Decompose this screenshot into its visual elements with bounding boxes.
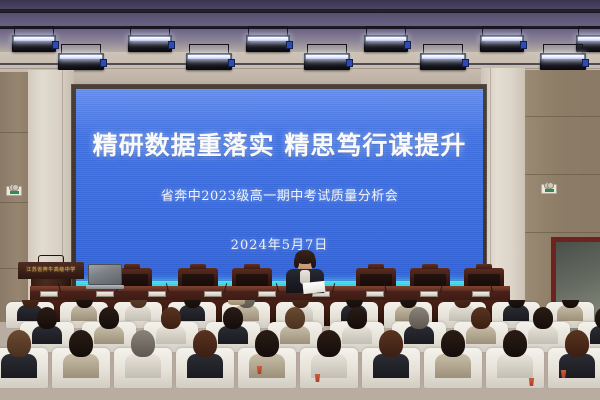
audience-shoulders: [125, 354, 161, 378]
lamp-body: [12, 35, 56, 52]
stage-light: [480, 35, 524, 52]
audience-head: [37, 307, 57, 329]
lamp-body: [246, 35, 290, 52]
audience-shoulders: [497, 354, 533, 378]
audience-head: [69, 330, 93, 357]
lamp-tab: [100, 59, 107, 67]
audience-head: [131, 330, 155, 357]
audience-head: [223, 307, 243, 329]
lamp-tab: [582, 59, 589, 67]
lamp-led: [482, 37, 522, 41]
audience-shoulders: [373, 354, 409, 378]
audience-shoulders: [1, 354, 37, 378]
desk-nameplate: [472, 291, 490, 297]
stage-light: [420, 53, 466, 70]
audience-head: [7, 330, 31, 357]
podium-chair: [356, 268, 396, 288]
desk-nameplate: [148, 291, 166, 297]
lamp-body: [304, 53, 350, 70]
lamp-body: [186, 53, 232, 70]
lamp-tab: [462, 59, 469, 67]
truss-bar-upper: [0, 9, 600, 13]
audience-head: [441, 330, 465, 357]
audience-shoulders: [187, 354, 223, 378]
lamp-led: [422, 55, 464, 59]
lamp-led: [366, 37, 406, 41]
slide-title: 精研数据重落实 精思笃行谋提升: [76, 126, 483, 162]
slide-date: 2024年5月7日: [76, 234, 483, 253]
desk-nameplate: [420, 291, 438, 297]
stage-light: [58, 53, 104, 70]
stage-light: [12, 35, 56, 52]
laptop: [86, 264, 124, 289]
audience-head: [99, 307, 119, 329]
desk-nameplate: [96, 291, 114, 297]
stage-light: [186, 53, 232, 70]
presenter-hair: [295, 250, 315, 264]
wall-seam: [0, 132, 30, 133]
desk-nameplate: [258, 291, 276, 297]
lamp-led: [14, 37, 54, 41]
laptop-base: [86, 285, 124, 289]
lamp-tab: [228, 59, 235, 67]
stage-light: [364, 35, 408, 52]
desk-nameplate: [204, 291, 222, 297]
audience-area: [0, 300, 600, 400]
audience-head: [533, 307, 553, 329]
lamp-led: [578, 37, 600, 41]
audience-shoulders: [249, 354, 285, 378]
lamp-body: [540, 53, 586, 70]
lamp-tab: [346, 59, 353, 67]
led-screen-bezel: 精研数据重落实 精思笃行谋提升 省奔中2023级高一期中考试质量分析会 2024…: [72, 85, 486, 290]
slide-subtitle: 省奔中2023级高一期中考试质量分析会: [76, 185, 483, 204]
audience-head: [255, 330, 279, 357]
lamp-led: [542, 55, 584, 59]
audience-head: [503, 330, 527, 357]
wall-seam: [0, 202, 30, 203]
lamp-tab: [520, 41, 527, 49]
lamp-led: [130, 37, 170, 41]
lectern-plaque: 江苏省奔牛高级中学: [24, 266, 78, 275]
stage-light: [128, 35, 172, 52]
audience-head: [317, 330, 341, 357]
lamp-body: [480, 35, 524, 52]
lamp-led: [306, 55, 348, 59]
presenter: [283, 249, 327, 293]
presenter-papers: [302, 281, 325, 294]
lamp-led: [248, 37, 288, 41]
lamp-body: [128, 35, 172, 52]
lamp-led: [188, 55, 230, 59]
lamp-tab: [286, 41, 293, 49]
lamp-body: [420, 53, 466, 70]
audience-head: [565, 330, 589, 357]
stage-light: [246, 35, 290, 52]
led-screen: 精研数据重落实 精思笃行谋提升 省奔中2023级高一期中考试质量分析会 2024…: [76, 89, 483, 290]
audience-head: [379, 330, 403, 357]
wall-seam: [523, 174, 600, 175]
lectern-top: 江苏省奔牛高级中学: [18, 262, 84, 279]
emergency-light-icon: [541, 184, 557, 194]
podium-chair: [464, 268, 504, 288]
audience-shoulders: [590, 326, 600, 344]
audience-head: [193, 330, 217, 357]
audience-head: [347, 307, 367, 329]
podium-chair: [178, 268, 218, 288]
lamp-body: [58, 53, 104, 70]
desk-nameplate: [366, 291, 384, 297]
audience-head: [285, 307, 305, 329]
podium-chair: [410, 268, 450, 288]
emergency-light-icon: [6, 186, 22, 196]
lamp-tab: [52, 41, 59, 49]
podium-chair: [232, 268, 272, 288]
stage-light: [304, 53, 350, 70]
stage-light: [540, 53, 586, 70]
lamp-tab: [168, 41, 175, 49]
audience-head: [161, 307, 181, 329]
wall-seam: [523, 232, 600, 233]
audience-shoulders: [435, 354, 471, 378]
conference-hall-photo: 精研数据重落实 精思笃行谋提升 省奔中2023级高一期中考试质量分析会 2024…: [0, 0, 600, 400]
laptop-screen: [88, 264, 122, 285]
audience-head: [409, 307, 429, 329]
desk-nameplate: [40, 291, 58, 297]
lamp-tab: [404, 41, 411, 49]
audience-shoulders: [63, 354, 99, 378]
audience-head: [471, 307, 491, 329]
lamp-led: [60, 55, 102, 59]
wall-seam: [523, 116, 600, 117]
lamp-body: [364, 35, 408, 52]
audience-cap: [228, 300, 245, 305]
